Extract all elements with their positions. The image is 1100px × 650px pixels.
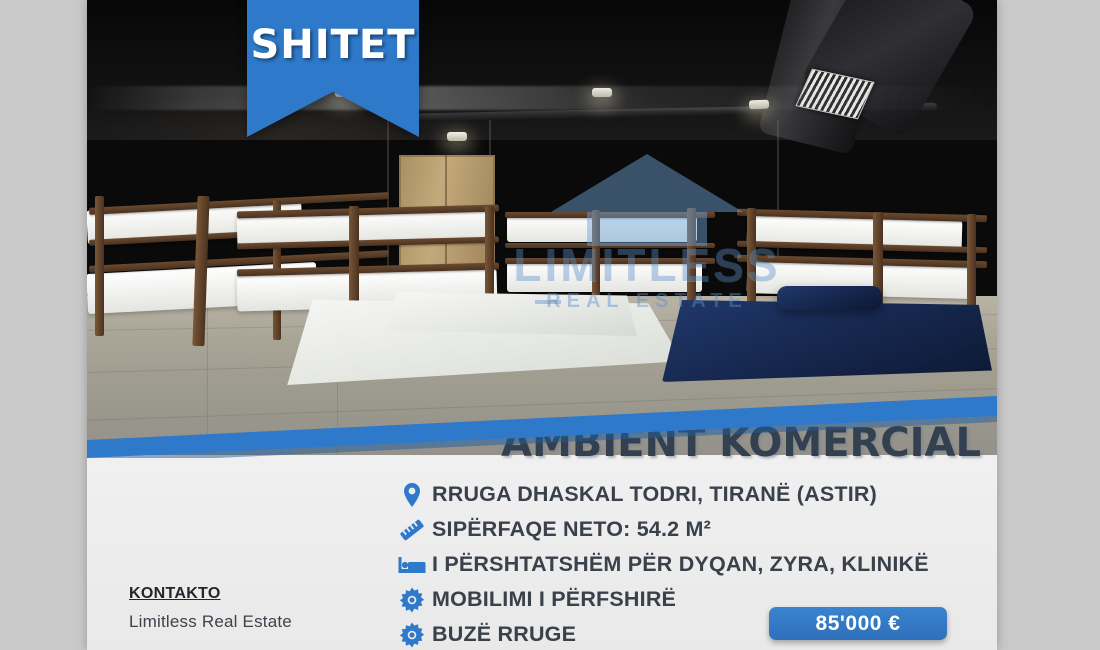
list-item-label: SIPËRFAQE NETO: 54.2 M² bbox=[432, 517, 711, 542]
list-item: RRUGA DHASKAL TODRI, TIRANË (ASTIR) bbox=[392, 477, 992, 512]
gear-icon bbox=[392, 587, 432, 613]
list-item-label: BUZË RRUGE bbox=[432, 622, 576, 647]
list-item-label: RRUGA DHASKAL TODRI, TIRANË (ASTIR) bbox=[432, 482, 877, 507]
price-value: 85'000 € bbox=[816, 612, 901, 636]
floor-mattress-white-2 bbox=[387, 292, 637, 336]
list-item-label: MOBILIMI I PËRFSHIRË bbox=[432, 587, 676, 612]
contact-heading: KONTAKTO bbox=[129, 585, 292, 603]
property-photo: LIMITLESS REAL ESTATE bbox=[87, 0, 997, 455]
ruler-icon bbox=[392, 517, 432, 543]
contact-agency-name: Limitless Real Estate bbox=[129, 612, 292, 632]
ceiling-edge-light bbox=[87, 86, 997, 110]
list-item: SIPËRFAQE NETO: 54.2 M² bbox=[392, 512, 992, 547]
list-item-label: I PËRSHTATSHËM PËR DYQAN, ZYRA, KLINIKË bbox=[432, 552, 929, 577]
status-badge-label: SHITET bbox=[247, 22, 419, 68]
listing-poster: LIMITLESS REAL ESTATE AMBIENT KOMERCIAL bbox=[0, 0, 1100, 650]
contact-block: KONTAKTO Limitless Real Estate bbox=[129, 585, 292, 632]
price-badge: 85'000 € bbox=[769, 607, 947, 640]
floor-pillow-blue bbox=[777, 286, 882, 310]
bed-icon bbox=[392, 554, 432, 576]
page-title: AMBIENT KOMERCIAL bbox=[501, 420, 981, 466]
listing-card: LIMITLESS REAL ESTATE AMBIENT KOMERCIAL bbox=[87, 0, 997, 650]
status-badge-ribbon: SHITET bbox=[247, 0, 419, 137]
map-pin-icon bbox=[392, 482, 432, 508]
gear-icon bbox=[392, 622, 432, 648]
list-item: I PËRSHTATSHËM PËR DYQAN, ZYRA, KLINIKË bbox=[392, 547, 992, 582]
floor-mattress-blue bbox=[662, 300, 992, 382]
ribbon-shape bbox=[247, 0, 419, 137]
listing-details: AMBIENT KOMERCIAL RRUGA DHASKAL TODRI, T… bbox=[87, 455, 997, 650]
